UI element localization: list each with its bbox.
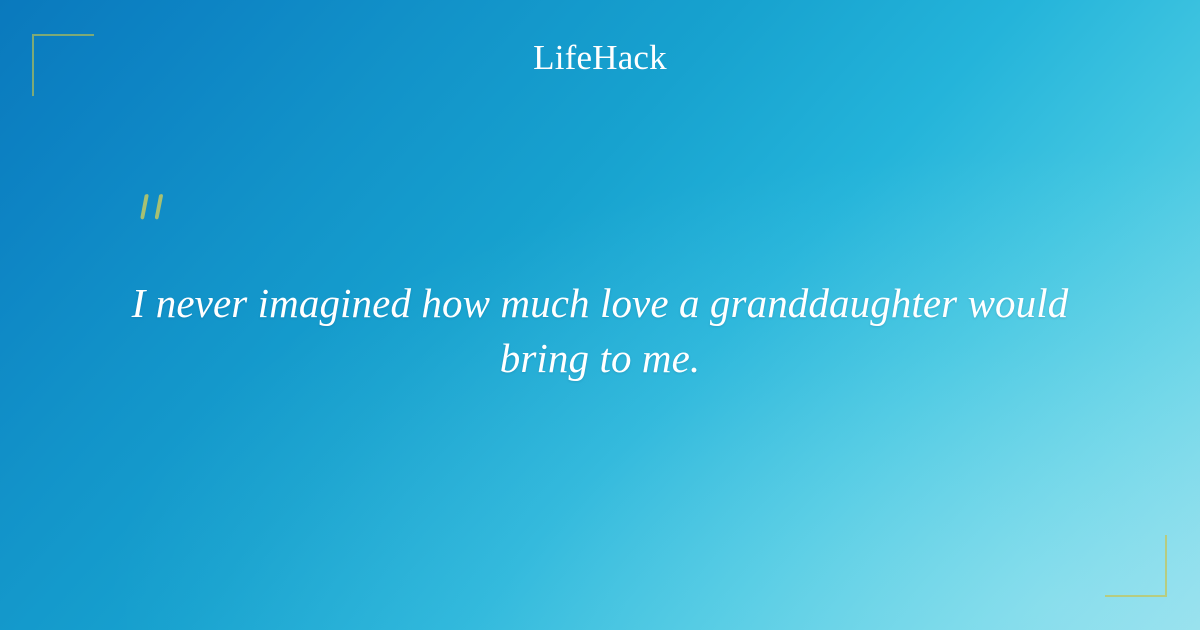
quote-text: I never imagined how much love a grandda… bbox=[110, 276, 1090, 385]
quote-card: LifeHack I never imagined how much love … bbox=[0, 0, 1200, 630]
corner-bracket-bottom-right-icon bbox=[1105, 535, 1167, 597]
quote-block: I never imagined how much love a grandda… bbox=[100, 190, 1100, 385]
quote-text-paragraph: I never imagined how much love a grandda… bbox=[100, 276, 1100, 385]
quotation-mark-icon bbox=[133, 190, 179, 236]
brand-header: LifeHack bbox=[0, 40, 1200, 75]
brand-logo-lifehack[interactable]: LifeHack bbox=[533, 40, 667, 75]
